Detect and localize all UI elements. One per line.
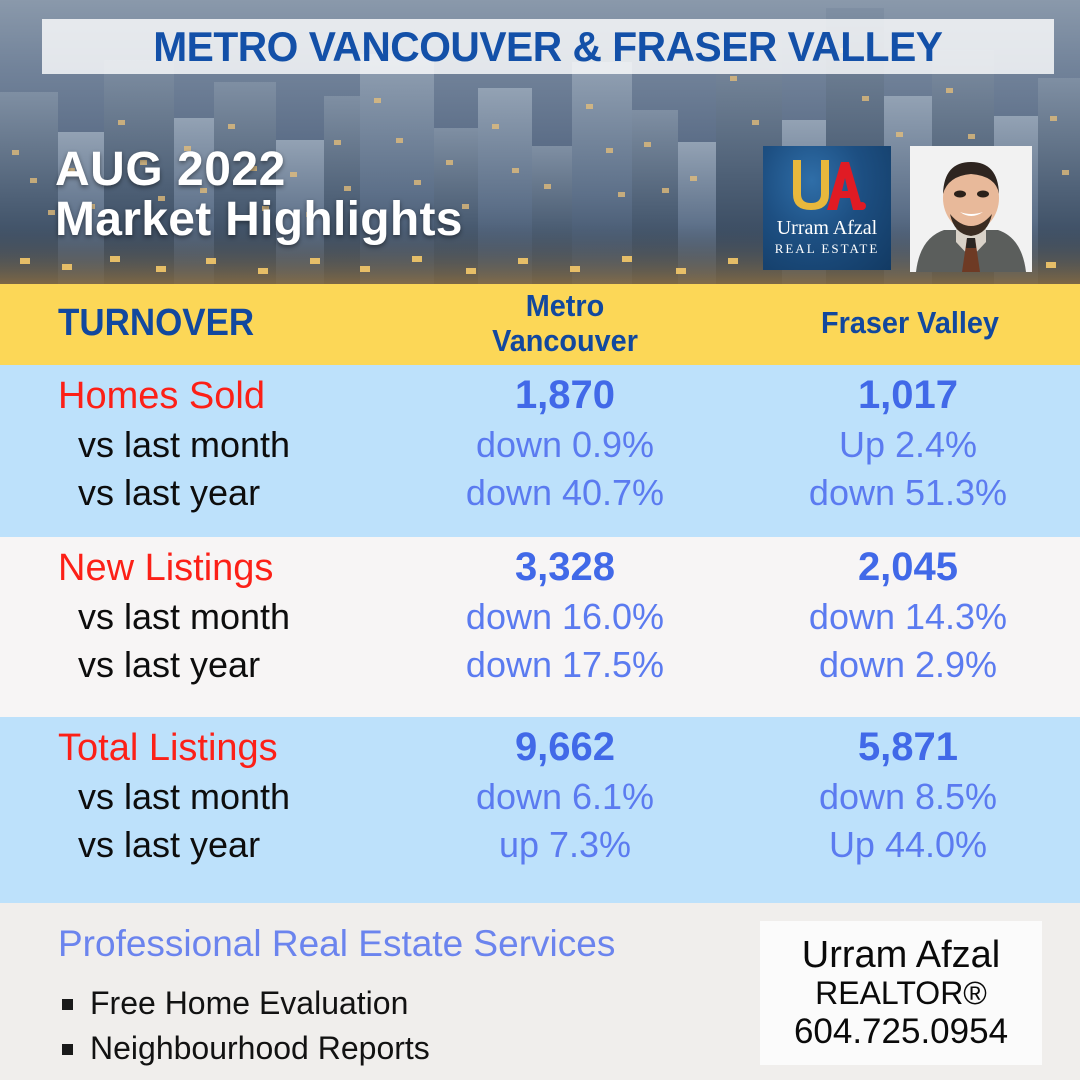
market-highlights-poster: METRO VANCOUVER & FRASER VALLEY AUG 2022… [0,0,1080,1080]
sub-label-month: vs last month [78,779,438,815]
table-row: Homes Sold vs last month vs last year 1,… [0,365,1080,537]
agent-headshot [910,146,1032,272]
header-category-label: TURNOVER [58,302,371,345]
agent-phone[interactable]: 604.725.0954 [794,1012,1008,1051]
cell-value: 5,871 [758,727,1058,767]
sub-label-year: vs last year [78,475,438,511]
sub-label-year: vs last year [78,647,438,683]
cell-value: 1,870 [415,375,715,415]
list-item: Neighbourhood Reports [62,1026,430,1071]
header-metro-vancouver: Metro Vancouver [430,289,700,358]
cell-vs-year: up 7.3% [415,827,715,863]
ua-monogram-icon [763,150,891,222]
square-bullet-icon [62,1044,73,1055]
table-row: New Listings vs last month vs last year … [0,537,1080,717]
sub-label-year: vs last year [78,827,438,863]
cell-vs-month: down 8.5% [758,779,1058,815]
cell-vs-year: down 51.3% [758,475,1058,511]
header-mv-line2: Vancouver [430,324,700,359]
cell-vs-year: down 2.9% [758,647,1058,683]
cell-value: 3,328 [415,547,715,587]
header-mv-line1: Metro [430,289,700,324]
cell-vs-month: down 14.3% [758,599,1058,635]
metric-label: Homes Sold [58,377,418,415]
report-subtitle: Market Highlights [55,196,463,245]
cell-vs-year: down 17.5% [415,647,715,683]
list-item: Free Home Evaluation [62,981,430,1026]
table-header-row: TURNOVER Metro Vancouver Fraser Valley [0,284,1080,365]
cell-vs-month: down 16.0% [415,599,715,635]
table-row: Total Listings vs last month vs last yea… [0,717,1080,903]
cell-value: 2,045 [758,547,1058,587]
logo-name: Urram Afzal [763,218,891,238]
hero-banner: METRO VANCOUVER & FRASER VALLEY AUG 2022… [0,0,1080,284]
cell-vs-month: Up 2.4% [758,427,1058,463]
contact-card: Urram Afzal REALTOR® 604.725.0954 [760,921,1042,1065]
services-list: Free Home Evaluation Neighbourhood Repor… [62,981,430,1072]
metric-label: New Listings [58,549,418,587]
cell-vs-year: down 40.7% [415,475,715,511]
square-bullet-icon [62,999,73,1010]
agent-portrait-icon [910,146,1032,272]
cell-vs-month: down 6.1% [415,779,715,815]
metric-label: Total Listings [58,729,418,767]
cell-value: 1,017 [758,375,1058,415]
agent-role: REALTOR® [815,976,987,1012]
cell-vs-month: down 0.9% [415,427,715,463]
report-month: AUG 2022 [55,146,286,195]
sub-label-month: vs last month [78,599,438,635]
header-fraser-valley: Fraser Valley [771,306,1050,341]
list-item-label: Free Home Evaluation [90,981,408,1026]
cell-vs-year: Up 44.0% [758,827,1058,863]
list-item-label: Neighbourhood Reports [90,1026,430,1071]
sub-label-month: vs last month [78,427,438,463]
brand-logo: Urram Afzal REAL ESTATE [763,146,891,270]
cell-value: 9,662 [415,727,715,767]
poster-title-banner: METRO VANCOUVER & FRASER VALLEY [42,19,1054,74]
agent-name: Urram Afzal [802,935,1000,976]
logo-tagline: REAL ESTATE [763,242,891,255]
poster-title: METRO VANCOUVER & FRASER VALLEY [153,26,942,68]
services-heading: Professional Real Estate Services [58,925,615,962]
